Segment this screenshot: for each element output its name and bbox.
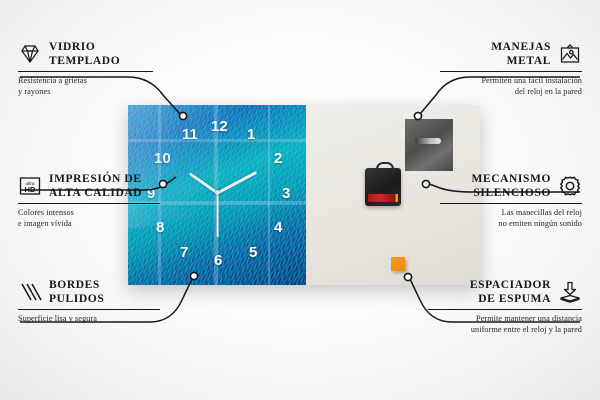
feature-header: BORDESPULIDOS (18, 278, 160, 306)
feature-title: IMPRESIÓN DEALTA CALIDAD (49, 172, 142, 200)
feature-header: ESPACIADORDE ESPUMA (428, 278, 582, 306)
feature-subtitle: Permiten una fácil instalacióndel reloj … (440, 76, 582, 98)
feature-title: MANEJASMETAL (491, 40, 551, 68)
clock-numeral: 5 (249, 245, 257, 260)
clock-numeral: 3 (282, 186, 290, 201)
svg-text:HD: HD (25, 185, 36, 194)
clock-numeral: 2 (274, 151, 282, 166)
foam-spacer (391, 257, 405, 271)
clock-center-hub (215, 190, 220, 195)
feature-header: MANEJASMETAL (440, 40, 582, 68)
hour-hand (189, 172, 219, 194)
feature-title: VIDRIOTEMPLADO (49, 40, 120, 68)
clock-numeral: 6 (214, 253, 222, 268)
infographic-canvas: 12 1 2 3 4 5 6 7 8 9 10 11 (0, 0, 600, 400)
feature-subtitle: Permite mantener una distanciauniforme e… (428, 314, 582, 336)
feature-manejas-metal[interactable]: MANEJASMETAL Permiten una fácil instalac… (440, 40, 582, 98)
feature-header: MECANISMOSILENCIOSO (440, 172, 582, 200)
picture-frame-hanger-icon (558, 42, 582, 66)
clock-numeral: 4 (274, 220, 282, 235)
clock-numeral: 11 (182, 127, 198, 142)
feature-subtitle: Superficie lisa y segura (18, 314, 160, 325)
feature-title: ESPACIADORDE ESPUMA (470, 278, 551, 306)
feature-title: MECANISMOSILENCIOSO (471, 172, 551, 200)
second-hand (217, 193, 219, 237)
polished-edges-icon (18, 280, 42, 304)
clock-numeral: 10 (154, 151, 171, 166)
feature-espaciador-espuma[interactable]: ESPACIADORDE ESPUMA Permite mantener una… (428, 278, 582, 336)
metal-hanger-plate (405, 119, 453, 171)
divider (440, 71, 582, 72)
feature-subtitle: Resistencia a grietasy rayones (18, 76, 153, 98)
product-photo: 12 1 2 3 4 5 6 7 8 9 10 11 (128, 105, 480, 285)
feature-subtitle: Colores intensose imagen vívida (18, 208, 160, 230)
clock-numeral: 7 (180, 245, 188, 260)
divider (18, 309, 160, 310)
feature-mecanismo-silencioso[interactable]: MECANISMOSILENCIOSO Las manecillas del r… (440, 172, 582, 230)
clock-numeral: 12 (211, 119, 228, 134)
feature-header: ultra HD IMPRESIÓN DEALTA CALIDAD (18, 172, 160, 200)
feature-subtitle: Las manecillas del relojno emiten ningún… (440, 208, 582, 230)
feature-vidrio-templado[interactable]: VIDRIOTEMPLADO Resistencia a grietasy ra… (18, 40, 153, 98)
divider (18, 71, 153, 72)
divider (428, 309, 582, 310)
divider (18, 203, 160, 204)
feature-title: BORDESPULIDOS (49, 278, 104, 306)
silent-clock-mechanism (365, 168, 401, 206)
feature-bordes-pulidos[interactable]: BORDESPULIDOS Superficie lisa y segura (18, 278, 160, 325)
clock-numeral: 1 (247, 127, 255, 142)
ultra-hd-icon: ultra HD (18, 174, 42, 198)
foam-spacer-arrow-icon (558, 280, 582, 304)
minute-hand (217, 171, 257, 194)
battery-strip (368, 194, 398, 202)
hanger-slot (415, 138, 441, 144)
mechanism-hanging-loop (376, 162, 394, 173)
feature-impresion-alta-calidad[interactable]: ultra HD IMPRESIÓN DEALTA CALIDAD Colore… (18, 172, 160, 230)
diamond-icon (18, 42, 42, 66)
gear-icon (558, 174, 582, 198)
divider (440, 203, 582, 204)
feature-header: VIDRIOTEMPLADO (18, 40, 153, 68)
